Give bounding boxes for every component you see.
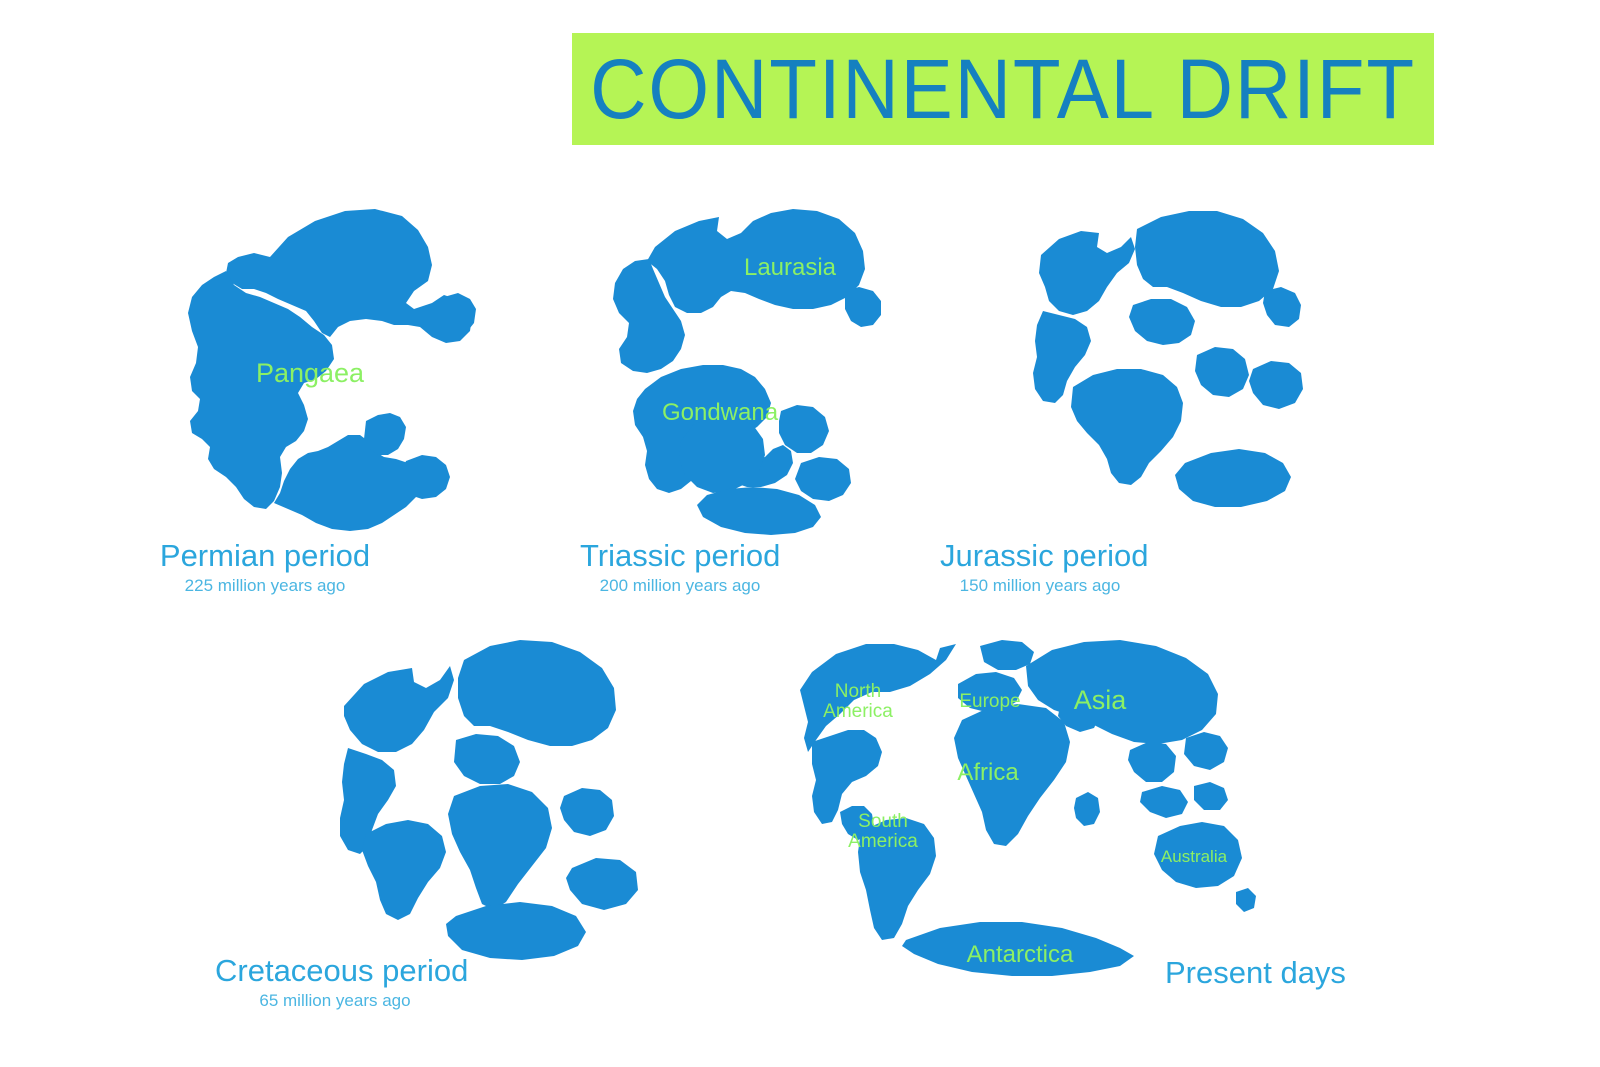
caption-present-days: Present days: [1165, 955, 1346, 991]
pangaea-southern-block: [274, 435, 420, 531]
present-australia: [1154, 822, 1242, 888]
map-cretaceous: [320, 620, 680, 965]
caption-cretaceous: Cretaceous period 65 million years ago: [215, 955, 455, 1011]
caption-jurassic-title: Jurassic period: [940, 540, 1140, 573]
map-jurassic: [1025, 195, 1325, 540]
jurassic-eurasia: [1135, 211, 1279, 307]
caption-permian-sub: 225 million years ago: [155, 576, 375, 596]
caption-triassic-sub: 200 million years ago: [580, 576, 780, 596]
jurassic-africa: [1071, 369, 1183, 485]
page-title: CONTINENTAL DRIFT: [590, 47, 1416, 131]
present-madagascar: [1074, 792, 1100, 826]
laurasia-landmass: [647, 209, 865, 313]
present-antarctica: [902, 922, 1134, 976]
present-map-svg: [790, 630, 1260, 990]
map-present: North America Europe Asia Africa South A…: [790, 630, 1260, 990]
present-asia-east-peninsula: [1184, 732, 1228, 770]
jurassic-east-tip: [1263, 287, 1301, 327]
present-indonesia-b: [1194, 782, 1228, 810]
cretaceous-map-svg: [320, 620, 680, 965]
present-indonesia-a: [1140, 786, 1188, 818]
present-europe-north: [980, 640, 1034, 670]
gondwana-antarctica-block: [697, 487, 821, 535]
caption-jurassic-sub: 150 million years ago: [940, 576, 1140, 596]
jurassic-europe-block: [1129, 299, 1195, 345]
cretaceous-australia-block: [566, 858, 638, 910]
cretaceous-north-america: [344, 666, 454, 752]
caption-triassic-title: Triassic period: [580, 540, 780, 573]
jurassic-north-america: [1039, 231, 1135, 315]
present-southeast-asia: [1128, 742, 1176, 782]
present-africa: [954, 704, 1070, 846]
cretaceous-india-block: [560, 788, 614, 836]
gondwana-australia-block: [795, 457, 851, 501]
jurassic-australia-block: [1249, 361, 1303, 409]
caption-cretaceous-title: Cretaceous period: [215, 955, 455, 988]
title-banner: CONTINENTAL DRIFT: [572, 33, 1434, 145]
caption-triassic: Triassic period 200 million years ago: [580, 540, 780, 596]
cretaceous-south-america: [362, 820, 446, 920]
map-triassic: Laurasia Gondwana: [595, 195, 905, 540]
map-permian: Pangaea: [170, 185, 490, 535]
cretaceous-eurasia: [458, 640, 616, 746]
pangaea-australia-block: [400, 455, 450, 499]
permian-map-svg: [170, 185, 490, 535]
gondwana-india-block: [779, 405, 829, 453]
caption-cretaceous-sub: 65 million years ago: [215, 991, 455, 1011]
jurassic-map-svg: [1025, 195, 1325, 540]
caption-permian-title: Permian period: [155, 540, 375, 573]
present-south-america: [858, 818, 936, 940]
jurassic-india-block: [1195, 347, 1249, 397]
triassic-map-svg: [595, 195, 905, 540]
caption-jurassic: Jurassic period 150 million years ago: [940, 540, 1140, 596]
cretaceous-europe-block: [454, 734, 520, 784]
jurassic-antarctica: [1175, 449, 1291, 507]
present-north-america: [800, 644, 956, 752]
infographic-canvas: CONTINENTAL DRIFT Pangaea Permian period…: [0, 0, 1600, 1067]
laurasia-northeast-tip: [845, 287, 881, 327]
cretaceous-africa: [448, 784, 552, 910]
present-new-zealand: [1236, 888, 1256, 912]
caption-permian: Permian period 225 million years ago: [155, 540, 375, 596]
cretaceous-antarctica: [446, 902, 586, 960]
pangaea-india-block: [364, 413, 406, 455]
